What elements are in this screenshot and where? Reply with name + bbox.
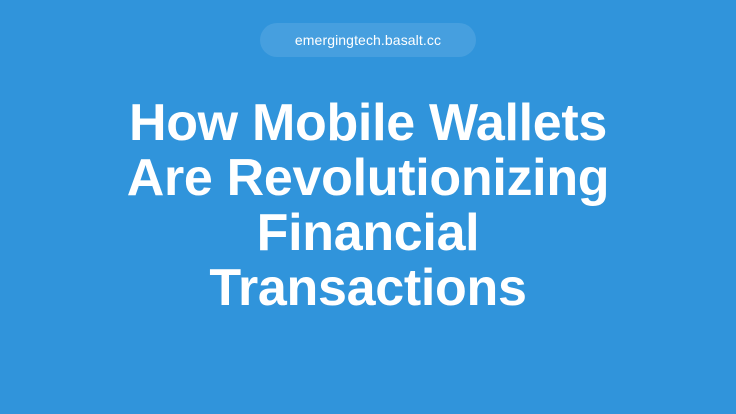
headline-line-1: How Mobile Wallets xyxy=(129,96,607,151)
site-domain-label: emergingtech.basalt.cc xyxy=(295,33,441,47)
headline-container: How Mobile Wallets Are Revolutionizing F… xyxy=(0,96,736,316)
page-title: How Mobile Wallets Are Revolutionizing F… xyxy=(127,96,610,316)
site-domain-badge[interactable]: emergingtech.basalt.cc xyxy=(260,23,476,57)
social-share-card: emergingtech.basalt.cc How Mobile Wallet… xyxy=(0,0,736,414)
headline-line-3: Financial xyxy=(257,206,480,261)
headline-line-4: Transactions xyxy=(209,261,526,316)
headline-line-2: Are Revolutionizing xyxy=(127,151,610,206)
